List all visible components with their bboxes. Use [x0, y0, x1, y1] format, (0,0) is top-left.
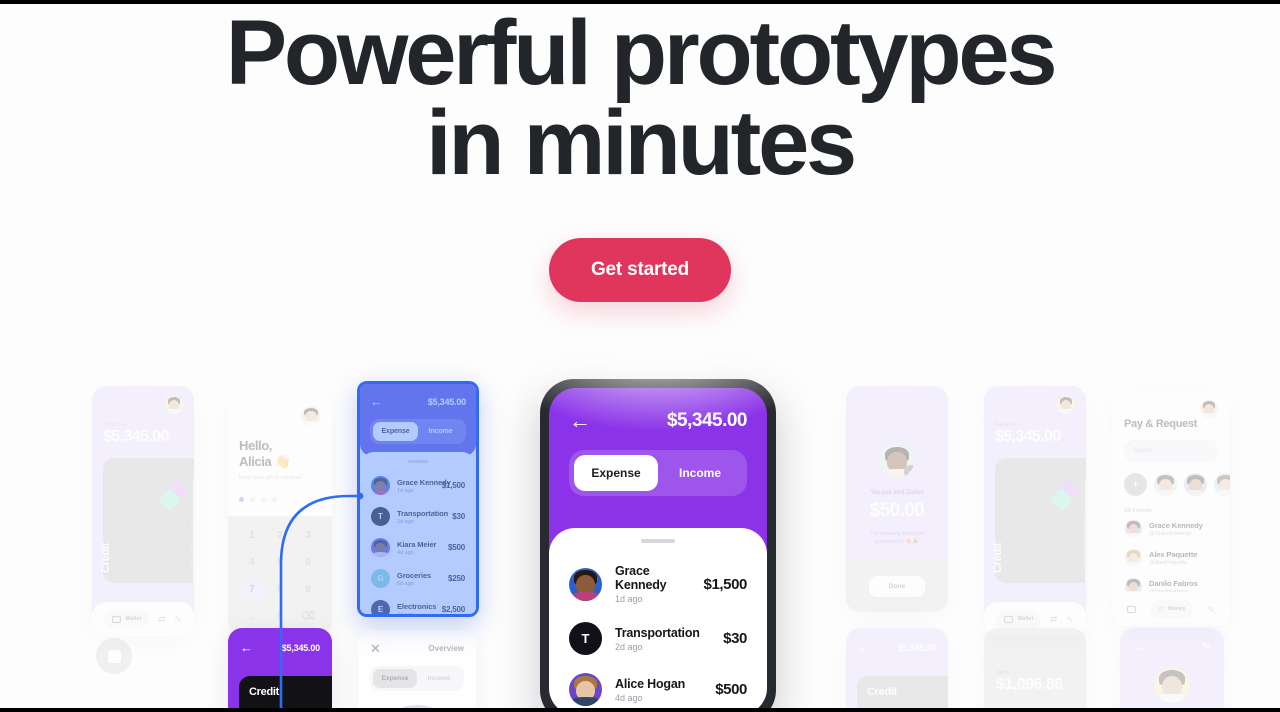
table-row[interactable]: Alice Hogan 4d ago $500 — [569, 664, 747, 712]
row-time: 7d ago — [397, 612, 435, 618]
brand-diamond-icon — [161, 482, 189, 510]
overview-segmented-control[interactable]: Expense Income — [370, 666, 464, 691]
card-amount: $5,345.00 — [898, 643, 936, 653]
row-title: Grace Kennedy — [397, 478, 435, 487]
row-time: 1d ago — [397, 488, 435, 494]
artboard-stock[interactable]: ← Stock $1,096.86 +13.54% — [984, 628, 1086, 712]
drag-handle[interactable] — [408, 460, 428, 463]
hero-section: Powerful prototypes in minutes Get start… — [0, 4, 1280, 302]
list-item[interactable]: Grace Kennedy@GraceKennedy — [1124, 514, 1218, 543]
key-1[interactable]: 1 — [240, 526, 264, 545]
artboard-transactions-selected[interactable]: ← $5,345.00 Expense Income Grace Kennedy… — [357, 381, 479, 617]
avatar-initial: G — [371, 569, 390, 588]
edit-icon[interactable]: ✎ — [1201, 640, 1212, 653]
avatar — [1125, 549, 1142, 566]
card-number: 0000 0000 0000 0000 — [189, 515, 194, 571]
canvas-tool-button[interactable] — [96, 638, 132, 674]
row-time: 4d ago — [615, 693, 702, 703]
activity-icon[interactable]: ∿ — [1207, 604, 1215, 615]
avatar — [1057, 396, 1075, 414]
avatar — [1154, 667, 1190, 703]
nav-item-wallet[interactable]: Wallet — [104, 611, 149, 628]
avatar-initial: T — [569, 622, 602, 655]
row-amount: $250 — [448, 574, 465, 583]
transactions-amount: $5,345.00 — [428, 397, 466, 407]
credit-card[interactable]: Credit 0000 0000 0000 0000 — [995, 458, 1086, 583]
row-amount: $30 — [452, 512, 465, 521]
headline-line-1: Powerful prototypes — [226, 2, 1055, 104]
artboard-overview[interactable]: ✕ Overview Expense Income — [358, 630, 476, 712]
greeting-line2: Alicia 👋 — [239, 454, 290, 469]
friend-name: Grace Kennedy — [1149, 521, 1217, 530]
search-input[interactable]: Search... — [1124, 440, 1218, 462]
artboard-wallet-left[interactable]: Balance $5,345.00 Credit 0000 0000 0000 … — [92, 386, 194, 636]
avatar[interactable] — [1184, 473, 1207, 496]
headline-line-2: in minutes — [0, 98, 1280, 188]
friend-handle: @GraceKennedy — [1149, 531, 1217, 537]
list-item[interactable]: Alex Paquette@AlexPaquette — [1124, 543, 1218, 572]
key-3[interactable]: 3 — [296, 526, 320, 545]
row-amount: $1,500 — [442, 481, 465, 490]
back-icon[interactable]: ← — [569, 412, 591, 430]
pin-keypad[interactable]: 1 2 3 4 5 6 7 8 9 . 0 ⌫ — [228, 516, 332, 636]
transaction-sheet: Grace Kennedy1d ago $1,500 T Transportat… — [360, 452, 476, 617]
avatar-initial: E — [371, 600, 390, 617]
page-title: Powerful prototypes in minutes — [0, 4, 1280, 188]
avatar — [301, 406, 321, 426]
transfer-icon: ⇄ — [1158, 605, 1164, 613]
wallet-icon — [112, 616, 121, 623]
sent-caption: You just sent Darius — [846, 490, 948, 496]
row-title: Transportation — [397, 509, 445, 518]
row-amount: $30 — [723, 630, 747, 647]
activity-icon[interactable]: ∿ — [1066, 614, 1074, 625]
balance-amount: $5,345.00 — [995, 428, 1075, 446]
sent-note: For amazing food and good times! 🍕🎉 — [846, 530, 948, 547]
key-8[interactable]: 8 — [268, 580, 292, 599]
wallet-icon[interactable] — [1127, 606, 1136, 613]
key-dot[interactable]: . — [240, 607, 264, 626]
card-label: Credit — [992, 543, 1004, 573]
table-row[interactable]: T Transportation 2d ago $30 — [569, 613, 747, 664]
row-amount: $2,500 — [442, 605, 465, 614]
square-icon — [108, 650, 121, 663]
overview-title: Overview — [428, 644, 464, 653]
row-title: Grace Kennedy — [615, 564, 691, 592]
key-4[interactable]: 4 — [240, 553, 264, 572]
pin-dots — [239, 497, 321, 502]
tab-income[interactable]: Income — [418, 422, 463, 441]
credit-card[interactable]: Credit 0000 0000 0000 0000 — [857, 676, 948, 712]
transfer-icon[interactable]: ⇄ — [158, 614, 166, 625]
key-7[interactable]: 7 — [240, 580, 264, 599]
table-row[interactable]: Grace Kennedy 1d ago $1,500 — [569, 555, 747, 613]
page-title: Pay & Request — [1124, 418, 1218, 430]
table-row[interactable]: G Groceries6d ago $250 — [370, 563, 466, 594]
back-icon[interactable]: ← — [370, 395, 383, 408]
card-label: Credit — [249, 686, 279, 698]
row-time: 4d ago — [397, 550, 441, 556]
bottom-nav[interactable]: ⇄ Money ∿ — [1112, 592, 1230, 626]
greeting-line1: Hello, — [239, 438, 272, 453]
nav-item-wallet[interactable]: Wallet — [996, 611, 1041, 628]
card-label: Credit — [867, 686, 897, 698]
row-amount: $500 — [448, 543, 465, 552]
wallet-icon — [1004, 616, 1013, 623]
back-icon[interactable]: ← — [240, 641, 253, 654]
card-number: 0000 0000 0000 0000 — [1081, 515, 1086, 571]
row-time: 1d ago — [615, 594, 691, 604]
nav-label-wallet: Wallet — [125, 616, 141, 622]
avatar[interactable] — [1214, 473, 1230, 496]
phone-screen: ← $5,345.00 Expense Income — [549, 388, 767, 712]
artboard-card-detail-purple[interactable]: ← $5,345.00 Credit 0000 0000 0000 0000 — [228, 628, 332, 712]
get-started-button[interactable]: Get started — [549, 238, 731, 302]
prototype-hero-page: Balance $5,345.00 Credit 0000 0000 0000 … — [0, 0, 1280, 712]
phone-amount: $5,345.00 — [667, 410, 747, 432]
avatar: ✓ — [880, 444, 914, 478]
transfer-icon[interactable]: ⇄ — [1050, 614, 1058, 625]
avatar — [569, 673, 602, 706]
friend-name: Alex Paquette — [1149, 550, 1217, 559]
row-time: 2d ago — [397, 519, 445, 525]
row-title: Kiara Meier — [397, 540, 441, 549]
avatar-initial: T — [371, 507, 390, 526]
key-backspace[interactable]: ⌫ — [296, 607, 320, 626]
back-icon[interactable]: ← — [996, 642, 1009, 657]
brand-diamond-icon — [1053, 482, 1081, 510]
avatar — [165, 396, 183, 414]
friend-handle: @AlexPaquette — [1149, 560, 1217, 566]
artboard-pay-request[interactable]: Pay & Request Search... + All Friends Gr… — [1112, 390, 1230, 626]
table-row[interactable]: E Electronics7d ago $2,500 — [370, 594, 466, 617]
friend-name: Danilo Fabros — [1149, 579, 1217, 588]
phone-mockup: ← $5,345.00 Expense Income — [540, 379, 776, 712]
balance-amount: $5,345.00 — [103, 428, 183, 446]
nav-label-wallet: Wallet — [1017, 616, 1033, 622]
avatar[interactable] — [1154, 473, 1177, 496]
tab-income[interactable]: Income — [417, 669, 461, 688]
transaction-sheet: Grace Kennedy 1d ago $1,500 T Transporta… — [549, 528, 767, 712]
tab-expense[interactable]: Expense — [373, 422, 418, 441]
artboard-wallet-right[interactable]: Balance $5,345.00 Credit 0000 0000 0000 … — [984, 386, 1086, 636]
overview-donut-chart — [375, 705, 459, 712]
row-title: Alice Hogan — [615, 677, 702, 691]
back-icon[interactable]: ← — [858, 641, 871, 654]
tab-expense[interactable]: Expense — [373, 669, 417, 688]
done-bar: Done — [846, 560, 948, 612]
add-friend-button[interactable]: + — [1124, 473, 1147, 496]
table-row[interactable]: Kiara Meier4d ago $500 — [370, 532, 466, 563]
bottom-nav[interactable]: Wallet ⇄ ∿ — [92, 602, 194, 636]
quick-friends-row[interactable]: + — [1124, 473, 1218, 496]
artboard-login[interactable]: Hello, Alicia 👋 Enter your pin to contin… — [228, 396, 332, 636]
activity-icon[interactable]: ∿ — [174, 614, 182, 625]
table-row[interactable]: Grace Kennedy1d ago $1,500 — [370, 470, 466, 501]
tab-income[interactable]: Income — [658, 455, 742, 491]
artboard-card-detail-lavender[interactable]: ← $5,345.00 Credit 0000 0000 0000 0000 — [846, 628, 948, 712]
done-button[interactable]: Done — [869, 576, 925, 597]
segmented-control[interactable]: Expense Income — [569, 450, 747, 496]
key-2[interactable]: 2 — [268, 526, 292, 545]
tab-expense[interactable]: Expense — [574, 455, 658, 491]
row-title: Electronics — [397, 602, 435, 611]
row-time: 2d ago — [615, 642, 710, 652]
close-icon[interactable]: ✕ — [370, 642, 381, 655]
table-row[interactable]: T Transportation2d ago $30 — [370, 501, 466, 532]
card-amount: $5,345.00 — [282, 643, 320, 653]
nav-label-money: Money — [1168, 606, 1185, 612]
drag-handle[interactable] — [641, 539, 675, 543]
back-icon[interactable]: ← — [1132, 640, 1145, 653]
key-5[interactable]: 5 — [268, 553, 292, 572]
artboard-sent-confirmation[interactable]: ✓ You just sent Darius $50.00 For amazin… — [846, 386, 948, 612]
key-9[interactable]: 9 — [296, 580, 320, 599]
nav-item-money[interactable]: ⇄ Money — [1150, 600, 1193, 618]
avatar — [371, 538, 390, 557]
login-hint: Enter your pin to continue — [239, 475, 321, 481]
segmented-control[interactable]: Expense Income — [370, 419, 466, 444]
key-6[interactable]: 6 — [296, 553, 320, 572]
row-amount: $500 — [715, 681, 747, 698]
credit-card[interactable]: Credit 0000 0000 0000 0000 — [239, 676, 332, 712]
row-title: Groceries — [397, 571, 441, 580]
row-title: Transportation — [615, 626, 710, 640]
stock-amount: $1,096.86 — [996, 676, 1074, 694]
avatar — [1200, 400, 1218, 418]
check-badge-icon: ✓ — [904, 465, 914, 478]
avatar — [569, 568, 602, 601]
sent-amount: $50.00 — [846, 500, 948, 522]
credit-card[interactable]: Credit 0000 0000 0000 0000 — [103, 458, 194, 583]
key-0[interactable]: 0 — [268, 607, 292, 626]
avatar — [1125, 520, 1142, 537]
row-amount: $1,500 — [704, 576, 747, 593]
avatar — [371, 476, 390, 495]
artboard-profile[interactable]: ← ✎ Alicia Lehmann @AliciaLehmann — [1120, 628, 1224, 712]
row-time: 6d ago — [397, 581, 441, 587]
stock-change: +13.54% — [996, 698, 1074, 705]
card-label: Credit — [100, 543, 112, 573]
